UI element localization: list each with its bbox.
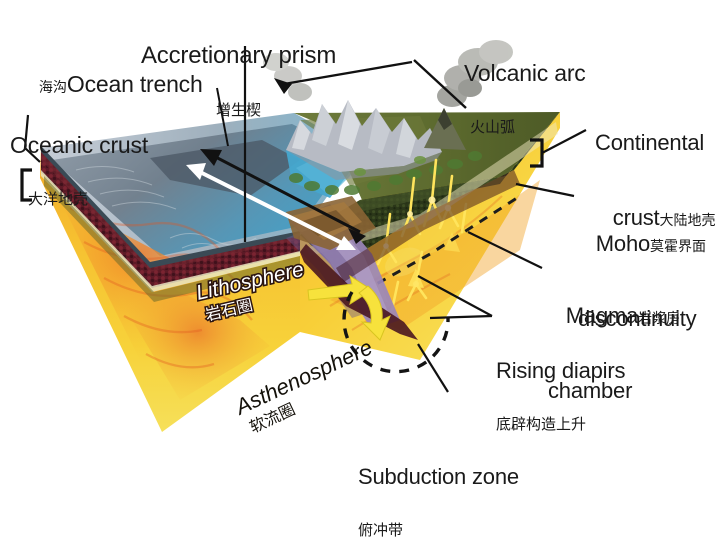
ocean-trench-cn: 海沟: [39, 79, 67, 95]
label-volcanic-arc: Volcanic arc 火山弧: [464, 26, 586, 153]
continental-crust-en1: Continental: [595, 131, 715, 155]
oceanic-crust-cn: 大洋地壳: [28, 192, 148, 208]
rising-diapirs-en: Rising diapirs: [496, 359, 625, 383]
volcanic-arc-cn: 火山弧: [470, 120, 586, 136]
subduction-zone-cn: 俯冲带: [358, 523, 519, 539]
magma-chamber-cn: 岩浆房: [638, 310, 680, 326]
diagram-canvas: Lithosphere 岩石圈 Asthenosphere 软流圈 Accret…: [0, 0, 719, 486]
oceanic-crust-en: Oceanic crust: [10, 133, 148, 158]
volcanic-arc-en: Volcanic arc: [464, 61, 586, 86]
label-subduction-zone: Subduction zone 俯冲带: [358, 430, 519, 556]
label-ocean-trench: 海沟Ocean trench: [30, 55, 203, 97]
label-oceanic-crust: Oceanic crust 大洋地壳: [10, 98, 148, 225]
subduction-zone-en: Subduction zone: [358, 465, 519, 489]
accretionary-prism-cn: 增生楔: [141, 103, 336, 119]
ocean-trench-en: Ocean trench: [67, 71, 203, 97]
leader-subduction-zone: [418, 344, 448, 392]
